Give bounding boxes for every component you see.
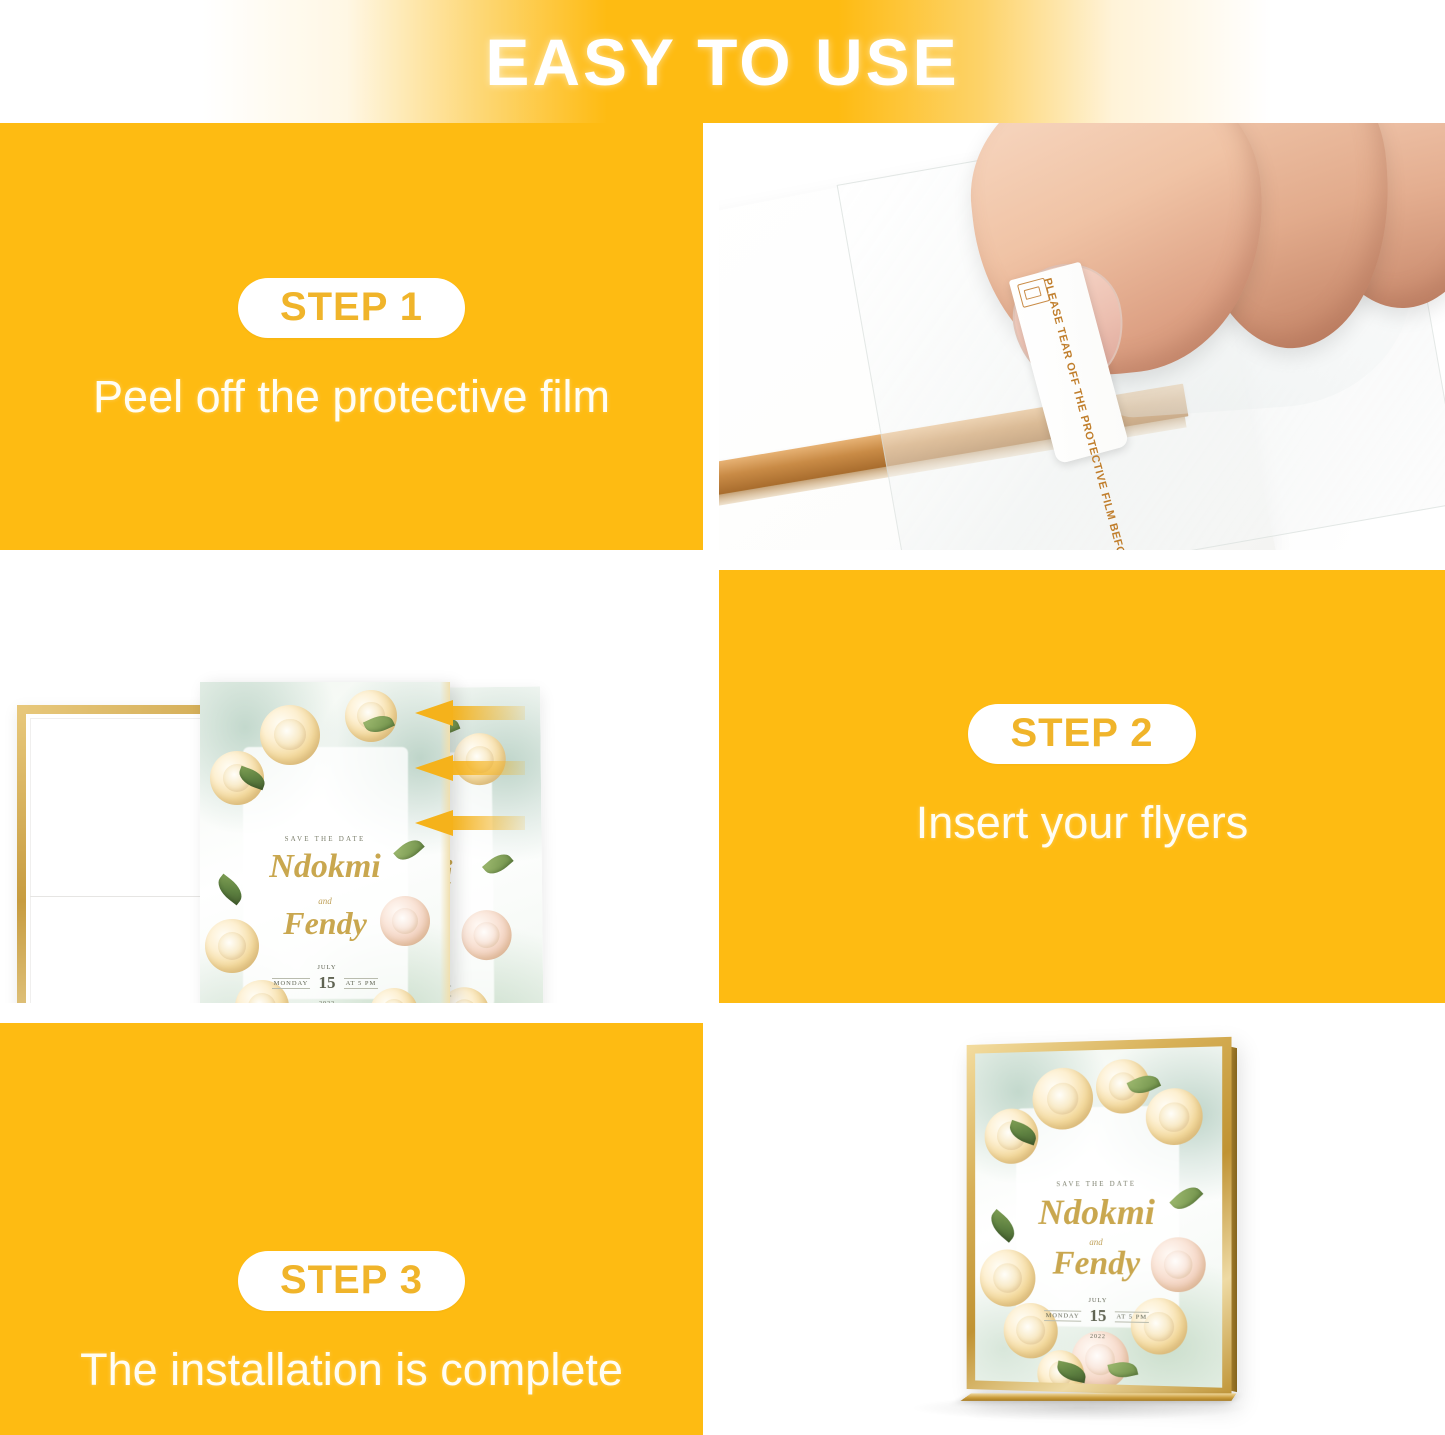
flyer-save-the-date: SAVE THE DATE [975,1179,1222,1188]
flyer-name-first: Ndokmi [975,1193,1222,1230]
flyer-name-second: Fendy [200,907,450,939]
hand-peeling-protective-film-photo: PLEASE TEAR OFF THE PROTECTIVE FILM BEFO… [719,123,1445,550]
flyer-date: JULY 15 2022 [1088,1290,1107,1343]
step-1-badge: STEP 1 [238,278,465,338]
arrow-head [415,700,453,726]
header-banner: EASY TO USE [0,0,1445,123]
hand-graphic: PLEASE TEAR OFF THE PROTECTIVE FILM BEFO… [974,123,1445,393]
gold-display-stand: SAVE THE DATE Ndokmi and Fendy MONDAY JU… [944,1041,1234,1419]
step-1-caption: Peel off the protective film [93,372,610,422]
step-2-block: STEP 2 Insert your flyers [719,704,1445,848]
step-1-block: STEP 1 Peel off the protective film [0,278,703,422]
flyer-day: 15 [318,973,335,992]
steps-grid: STEP 1 Peel off the protective film PLEA… [0,123,1445,1435]
arrow-head [415,755,453,781]
flyer-year: 2022 [1090,1334,1106,1340]
framed-flyer: SAVE THE DATE Ndokmi and Fendy MONDAY JU… [975,1046,1222,1387]
flyer-time: AT 5 PM [1114,1311,1149,1323]
flyer-name-second: Fendy [975,1246,1222,1282]
step-1-photo-panel: PLEASE TEAR OFF THE PROTECTIVE FILM BEFO… [719,123,1445,550]
arrow-left-icon [415,755,525,781]
arrow-tail [450,706,525,720]
step-2-text-panel: STEP 2 Insert your flyers [719,570,1445,1003]
flyer-date: JULY 15 2022 [317,957,336,1003]
step-2-badge: STEP 2 [968,704,1195,764]
gold-frame-body: SAVE THE DATE Ndokmi and Fendy MONDAY JU… [967,1037,1232,1397]
peel-tab-text: PLEASE TEAR OFF THE PROTECTIVE FILM BEFO… [1039,277,1099,450]
flyer-day: 15 [1090,1306,1107,1325]
page-title: EASY TO USE [485,29,959,95]
flyer-date-block: MONDAY JULY 15 2022 AT 5 PM [975,1289,1222,1346]
rose-bloom [260,705,320,765]
step-3-caption: The installation is complete [80,1345,623,1395]
step-2-photo-panel: SAVE THE DATE Ndokmi and Fendy MONDAY JU… [0,570,703,1003]
flyer-save-the-date: SAVE THE DATE [200,835,450,843]
step-3-block: STEP 3 The installation is complete [0,1251,703,1395]
step-3-badge: STEP 3 [238,1251,465,1311]
arrow-left-icon [415,810,525,836]
arrow-left-icon [415,700,525,726]
flyer-weekday: MONDAY [1044,1310,1082,1322]
finished-gold-frame-on-stand-photo: SAVE THE DATE Ndokmi and Fendy MONDAY JU… [719,1023,1445,1435]
arrow-tail [450,761,525,775]
flyer-card-front: SAVE THE DATE Ndokmi and Fendy MONDAY JU… [200,682,450,1003]
stand-base [961,1393,1237,1401]
flyer-year: 2022 [319,1001,335,1003]
step-3-photo-panel: SAVE THE DATE Ndokmi and Fendy MONDAY JU… [719,1023,1445,1435]
flyer-name-first: Ndokmi [200,850,450,884]
rose-bloom [1033,1067,1094,1130]
thumb [959,123,1279,387]
insert-flyer-into-frame-diagram: SAVE THE DATE Ndokmi and Fendy MONDAY JU… [0,570,703,1003]
insert-direction-arrows [415,700,545,860]
flyer-month: JULY [317,964,336,971]
arrow-head [415,810,453,836]
flyer-date-block: MONDAY JULY 15 2022 AT 5 PM [200,957,450,1003]
rose-bloom [345,690,397,742]
flyer-month: JULY [1088,1297,1107,1304]
step-3-text-panel: STEP 3 The installation is complete [0,1023,703,1435]
flyer-weekday: MONDAY [272,978,311,989]
arrow-tail [450,816,525,830]
step-2-caption: Insert your flyers [916,798,1249,848]
flyer-time: AT 5 PM [344,978,379,989]
step-1-text-panel: STEP 1 Peel off the protective film [0,123,703,550]
